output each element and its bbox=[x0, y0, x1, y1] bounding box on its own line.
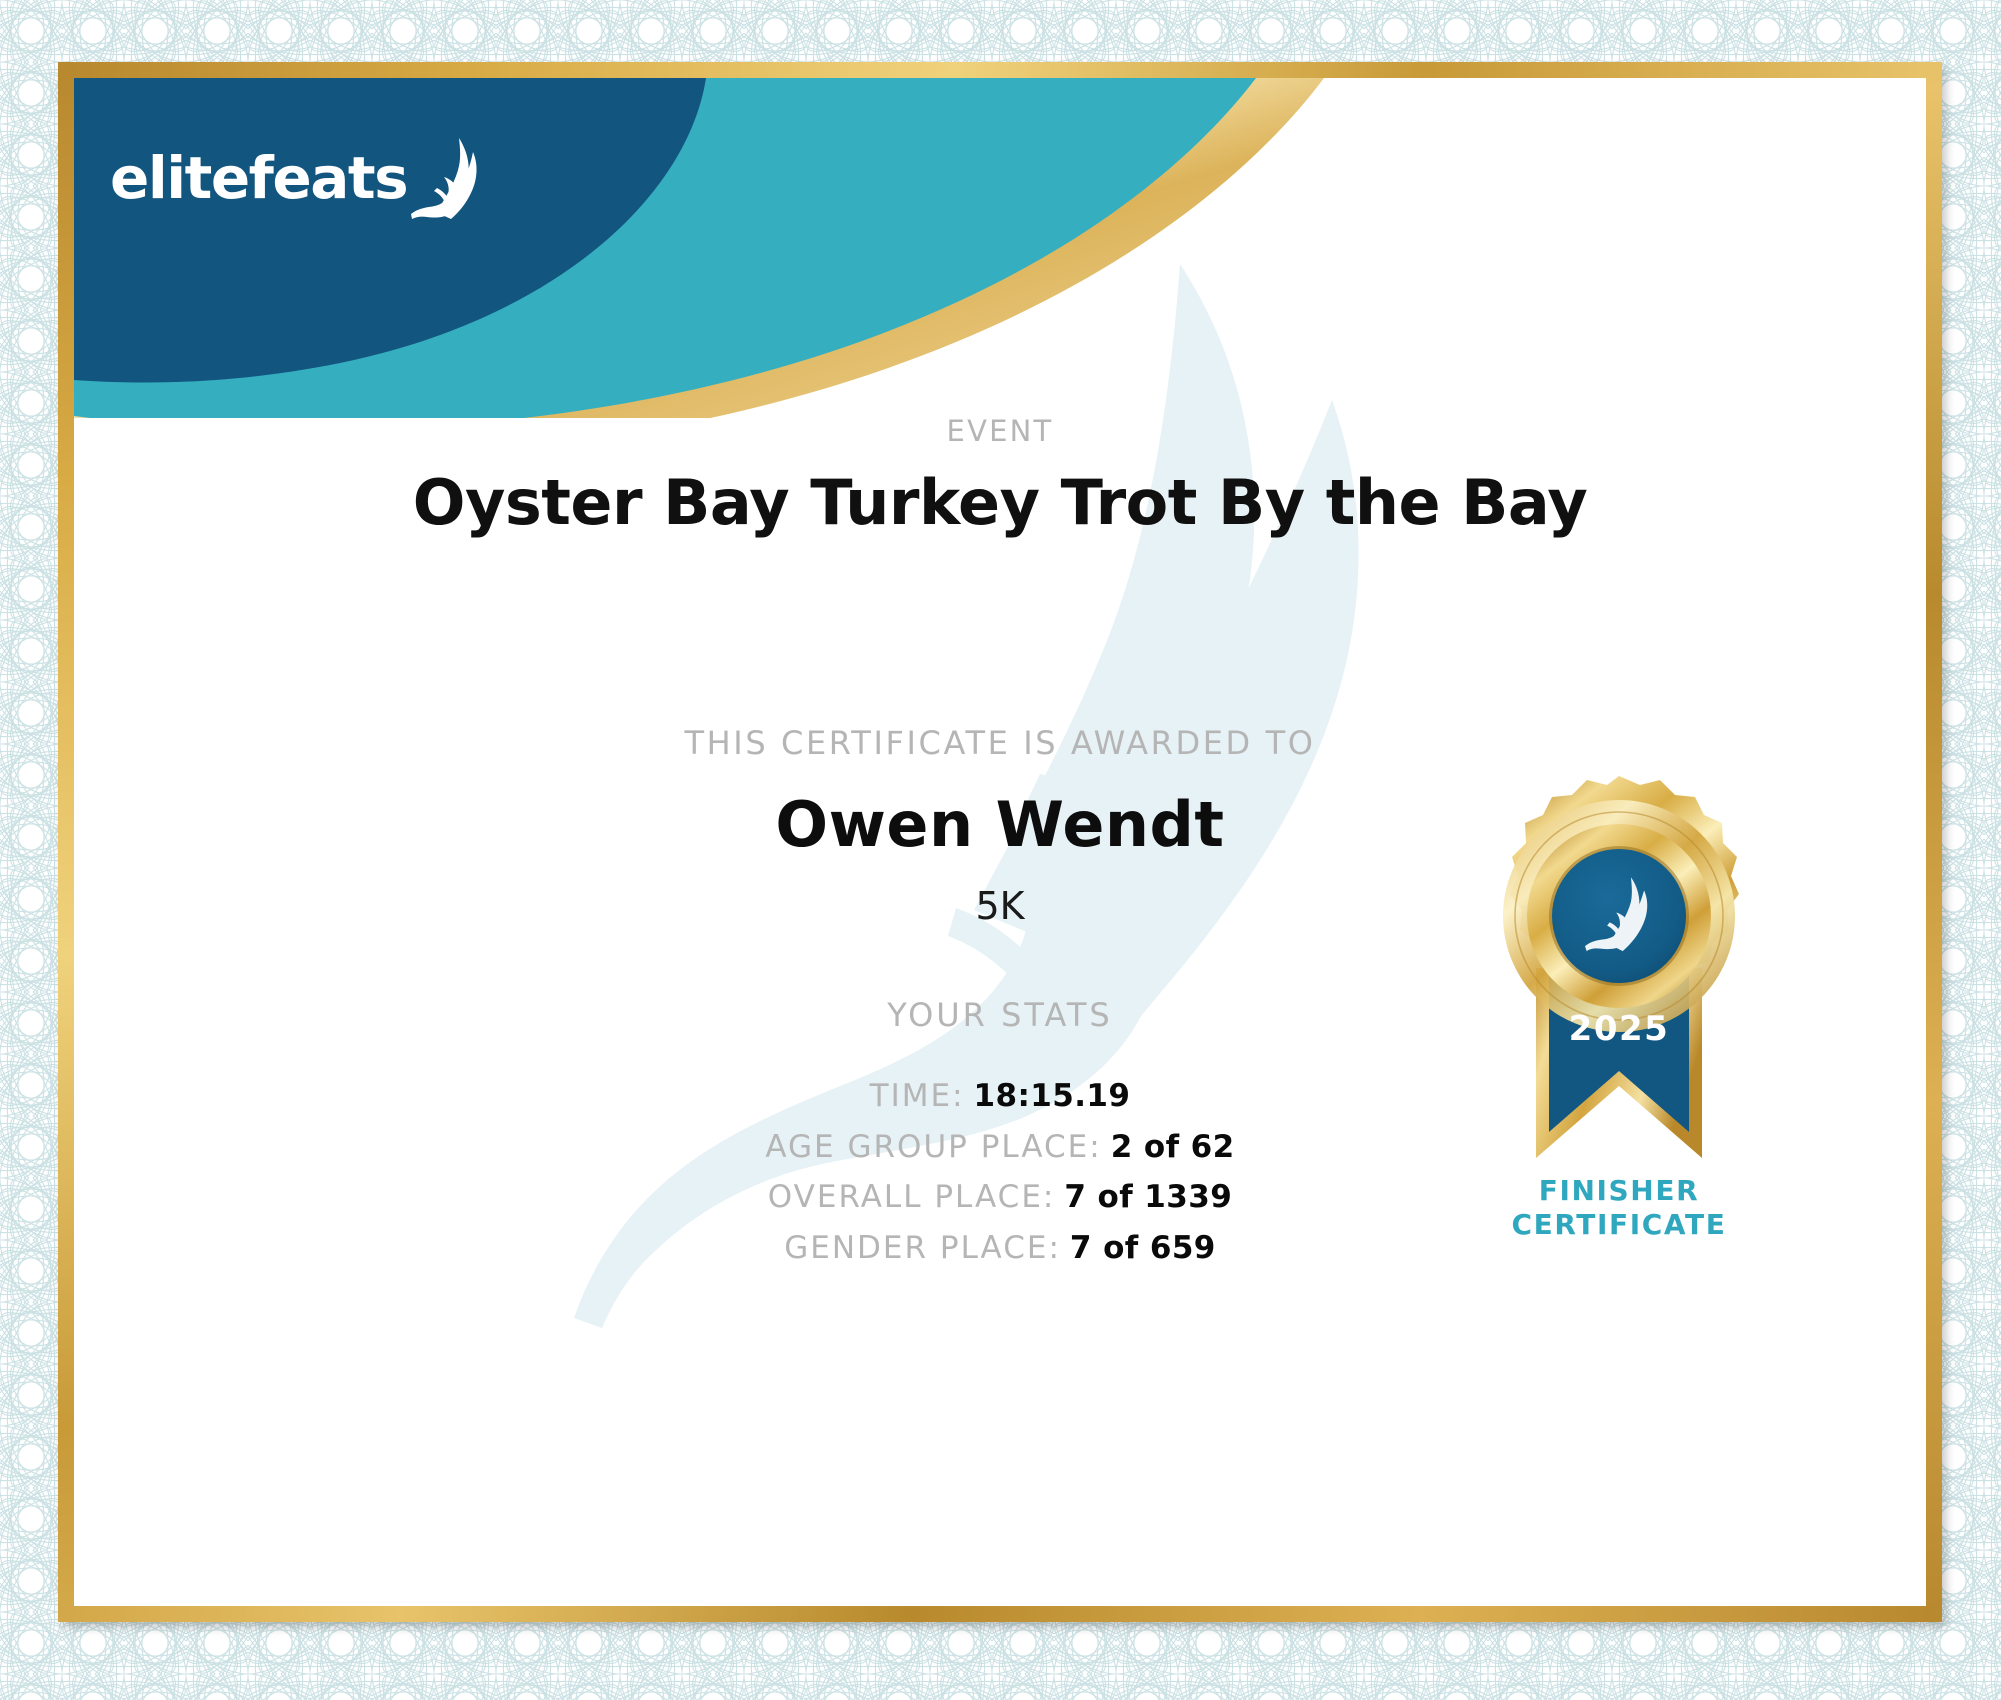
stat-value: 7 of 1339 bbox=[1064, 1179, 1232, 1215]
certificate-content: EVENT Oyster Bay Turkey Trot By the Bay … bbox=[74, 78, 1926, 1606]
stat-value: 2 of 62 bbox=[1111, 1129, 1235, 1165]
stat-key: TIME: bbox=[870, 1078, 965, 1114]
stat-value: 18:15.19 bbox=[974, 1078, 1131, 1114]
stat-key: OVERALL PLACE: bbox=[768, 1179, 1056, 1215]
certificate: elitefeats EVENT Oyster Bay Turkey Trot … bbox=[0, 0, 2001, 1700]
stat-key: GENDER PLACE: bbox=[784, 1230, 1061, 1266]
awarded-to-label: THIS CERTIFICATE IS AWARDED TO bbox=[74, 724, 1926, 762]
event-title: Oyster Bay Turkey Trot By the Bay bbox=[74, 466, 1926, 539]
certificate-body: elitefeats EVENT Oyster Bay Turkey Trot … bbox=[74, 78, 1926, 1606]
medal-seal-icon: 2025 bbox=[1454, 768, 1784, 1188]
finisher-caption: FINISHER CERTIFICATE bbox=[1454, 1174, 1784, 1242]
stat-key: AGE GROUP PLACE: bbox=[765, 1129, 1101, 1165]
event-label: EVENT bbox=[74, 414, 1926, 448]
finisher-medal-badge: 2025 FINISHER CERTIFICATE bbox=[1454, 768, 1784, 1288]
stat-value: 7 of 659 bbox=[1070, 1230, 1216, 1266]
badge-year: 2025 bbox=[1569, 1009, 1670, 1049]
finisher-caption-line1: FINISHER bbox=[1539, 1174, 1699, 1207]
finisher-caption-line2: CERTIFICATE bbox=[1512, 1208, 1727, 1241]
